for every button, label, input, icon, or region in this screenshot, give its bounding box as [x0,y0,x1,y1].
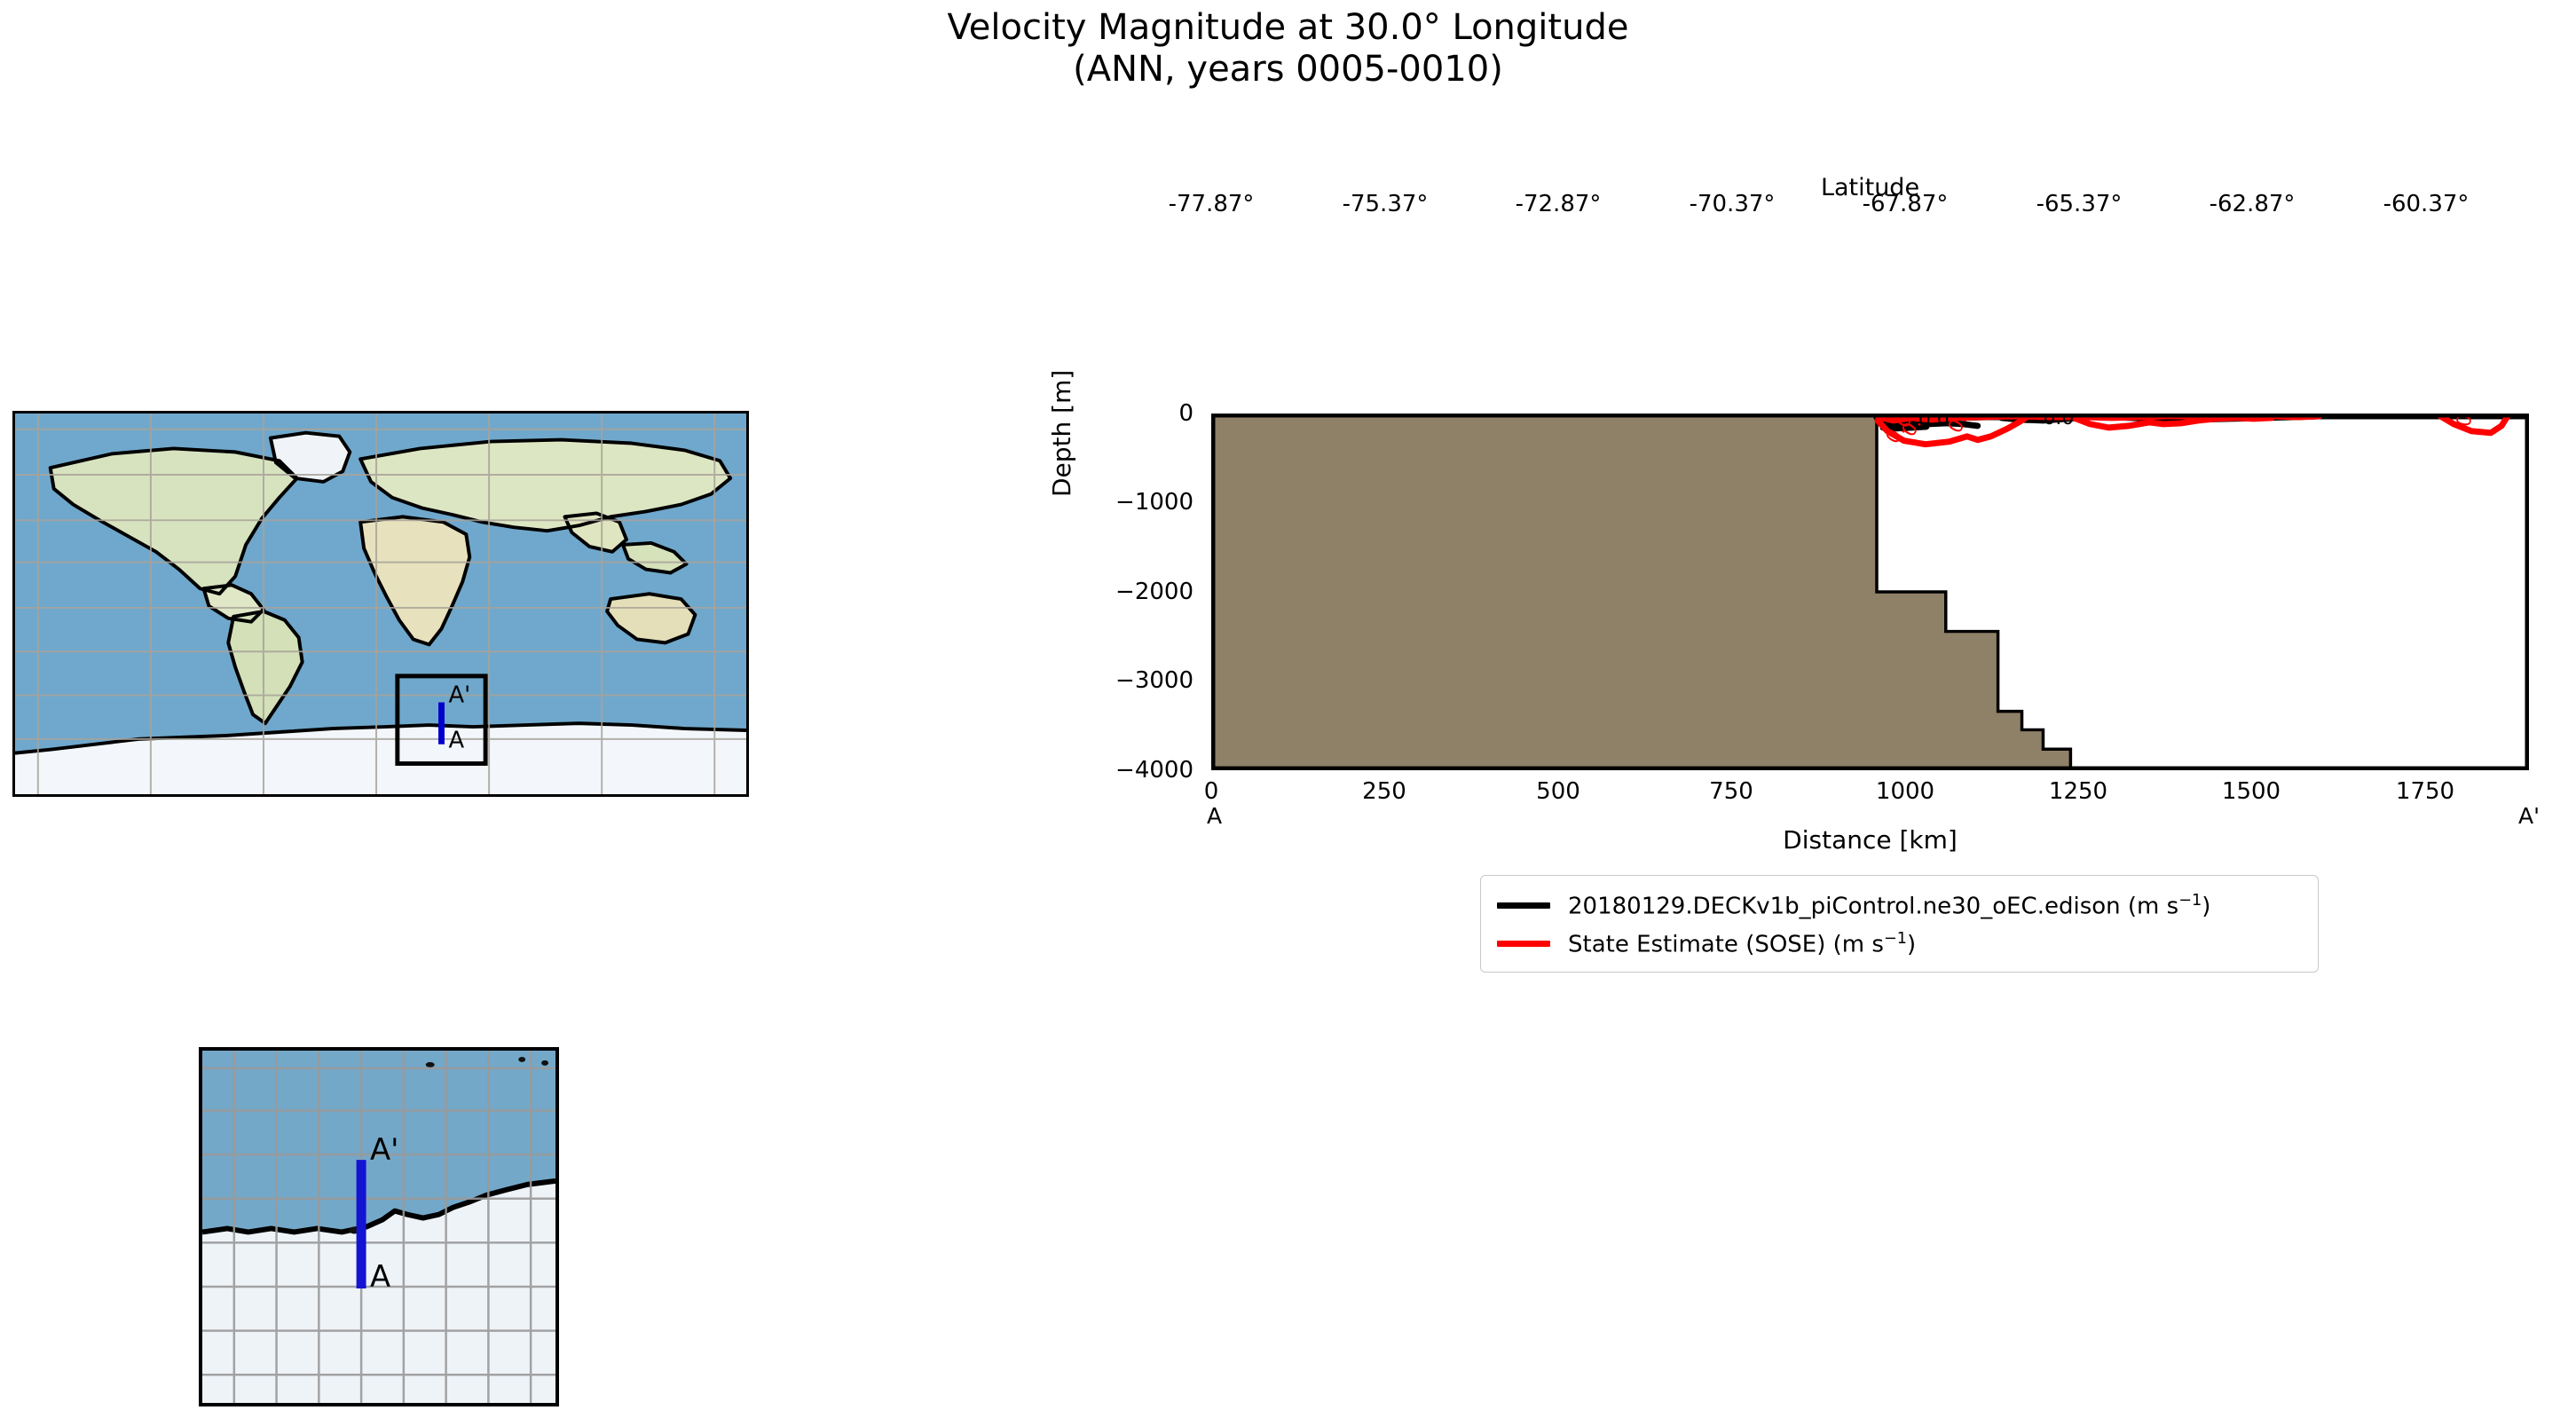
world-map-graphic: A' A [15,414,746,794]
depth-tick-4: −4000 [1078,757,1193,784]
legend-swatch-sose [1497,941,1550,947]
transect-end-label-axis: A' [2518,803,2540,829]
plot-legend: 20180129.DECKv1b_piControl.ne30_oEC.edis… [1480,875,2319,973]
chart-title-line1: Velocity Magnitude at 30.0° Longitude [0,7,2576,49]
latitude-tick-3: -70.37° [1690,191,1776,217]
latitude-tick-6: -62.87° [2210,191,2296,217]
depth-tick-1: −1000 [1078,489,1193,516]
contour-label-black-1: 0.0 [1918,415,1950,431]
distance-tick-6: 1500 [2222,778,2281,805]
latitude-tick-0: -77.87° [1169,191,1255,217]
cross-section-axes: 0.0 0.0 0.0 0.0 0.0 0.0 [1211,414,2529,770]
latitude-tick-2: -72.87° [1516,191,1602,217]
legend-entry-model: 20180129.DECKv1b_piControl.ne30_oEC.edis… [1497,886,2302,925]
depth-tick-3: −3000 [1078,667,1193,694]
transect-start-label-world: A [448,728,464,754]
bathymetry-fill [1213,415,2070,768]
world-map-inset: A' A [12,411,749,797]
latitude-tick-5: -65.37° [2036,191,2123,217]
cross-section-graphic: 0.0 0.0 0.0 0.0 0.0 0.0 [1213,415,2527,768]
latitude-tick-1: -75.37° [1343,191,1429,217]
distance-tick-5: 1250 [2049,778,2107,805]
transect-end-label-world: A' [448,682,470,709]
latitude-tick-7: -60.37° [2383,191,2470,217]
legend-swatch-model [1497,902,1550,909]
distance-tick-0: 0 [1204,778,1219,805]
chart-title: Velocity Magnitude at 30.0° Longitude (A… [0,7,2576,91]
distance-tick-3: 750 [1709,778,1753,805]
distance-tick-4: 1000 [1876,778,1934,805]
legend-label-model: 20180129.DECKv1b_piControl.ne30_oEC.edis… [1568,892,2210,920]
transect-start-label-region: A [370,1259,390,1294]
distance-axis-title: Distance [km] [1211,825,2529,855]
distance-tick-7: 1750 [2396,778,2454,805]
legend-label-sose: State Estimate (SOSE) (m s−1) [1568,930,1916,958]
latitude-tick-4: -67.87° [1863,191,1949,217]
depth-tick-0: 0 [1078,400,1193,427]
depth-tick-2: −2000 [1078,579,1193,605]
chart-title-subtitle: (ANN, years 0005-0010) [0,49,2576,91]
distance-tick-2: 500 [1536,778,1580,805]
transect-end-label-region: A' [370,1132,398,1167]
region-zoom-map: A' A [199,1047,559,1406]
distance-tick-1: 250 [1362,778,1406,805]
legend-entry-sose: State Estimate (SOSE) (m s−1) [1497,925,2302,963]
depth-axis-title: Depth [m] [1047,370,1076,497]
transect-start-label-axis: A [1207,803,1222,829]
region-map-graphic: A' A [202,1051,555,1403]
